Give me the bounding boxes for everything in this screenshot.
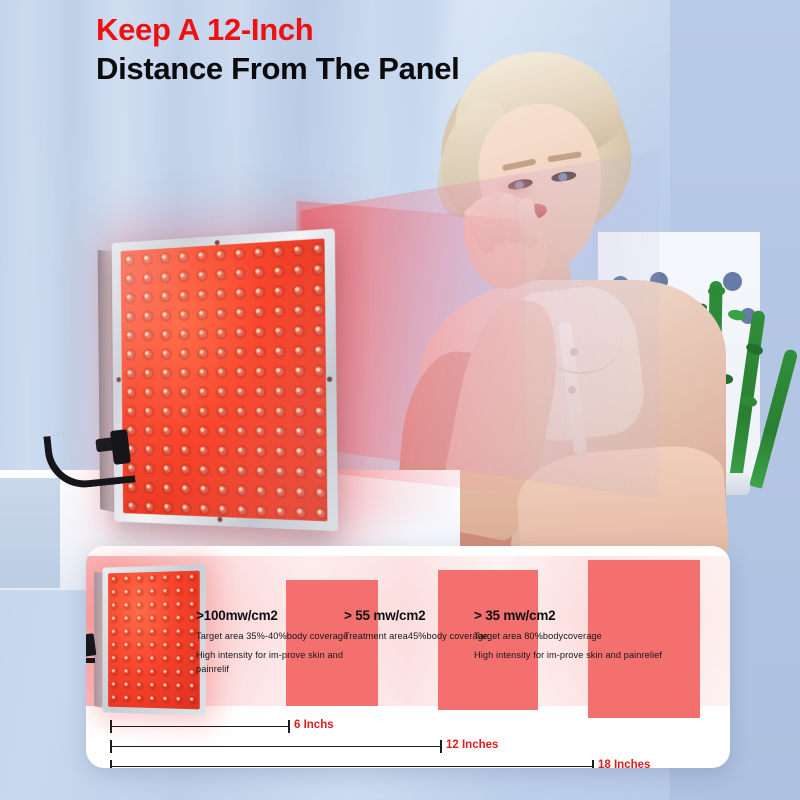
headline-line-2: Distance From The Panel xyxy=(96,51,459,88)
intensity-title: >100mw/cm2 xyxy=(196,608,361,623)
headline: Keep A 12-Inch Distance From The Panel xyxy=(96,12,459,87)
measurement-label: 12 Inches xyxy=(446,739,498,751)
distance-measurements: 6 Inchs 12 Inches 18 Inches xyxy=(86,718,730,768)
intensity-title: > 35 mw/cm2 xyxy=(474,608,662,623)
intensity-detail: Target area 80%bodycoverage xyxy=(474,630,662,643)
led-panel-gloss xyxy=(121,238,328,521)
led-panel xyxy=(112,228,338,531)
intensity-detail: Treatment area45%body coverage xyxy=(344,630,488,643)
headline-line-1: Keep A 12-Inch xyxy=(96,12,459,49)
measurement-label: 6 Inchs xyxy=(294,719,334,731)
intensity-title: > 55 mw/cm2 xyxy=(344,608,488,623)
intensity-column-1: >100mw/cm2 Target area 35%-40%body cover… xyxy=(196,608,361,676)
product-infographic: Keep A 12-Inch Distance From The Panel >… xyxy=(0,0,800,800)
measurement-label: 18 Inches xyxy=(598,759,650,768)
diagram-led-array xyxy=(108,571,200,710)
intensity-column-2: > 55 mw/cm2 Treatment area45%body covera… xyxy=(344,608,488,643)
diagram-led-panel xyxy=(103,564,206,715)
led-panel-frame xyxy=(112,228,338,531)
intensity-detail: High intensity for im-prove skin and pai… xyxy=(196,649,361,676)
distance-diagram-card: >100mw/cm2 Target area 35%-40%body cover… xyxy=(86,546,730,768)
intensity-column-3: > 35 mw/cm2 Target area 80%bodycoverage … xyxy=(474,608,662,663)
table-edge xyxy=(0,478,60,588)
intensity-detail: High intensity for im-prove skin and pai… xyxy=(474,649,662,662)
led-panel-face xyxy=(121,238,328,521)
intensity-detail: Target area 35%-40%body coverage xyxy=(196,630,361,643)
